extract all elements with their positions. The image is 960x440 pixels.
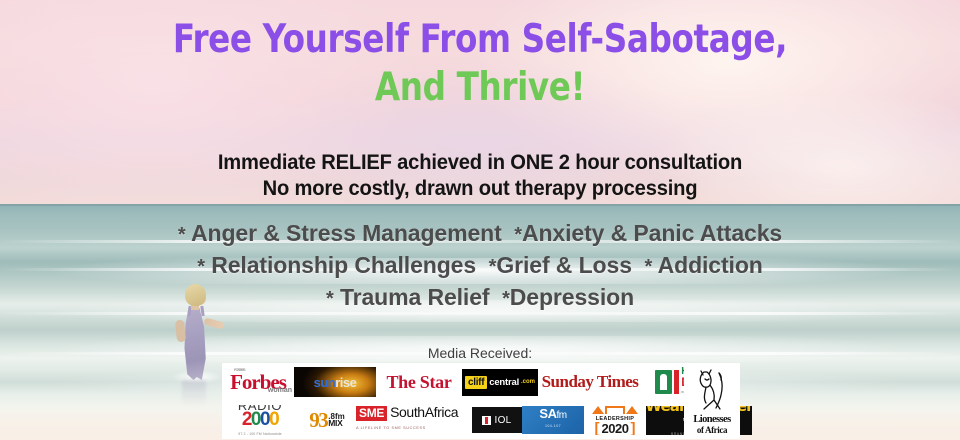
mix-93-8-logo[interactable]: 93 .8fm MIX xyxy=(298,405,356,435)
benefit-item: Trauma Relief xyxy=(340,284,490,310)
mix-text: MIX xyxy=(328,420,344,427)
lionesses-text: Lionesses xyxy=(693,414,730,425)
headline: Free Yourself From Self-Sabotage, And Th… xyxy=(34,16,927,112)
media-logo-row-1: FORBES Forbes woman sunrise The Star cli… xyxy=(222,363,740,401)
bullet-star-icon: * xyxy=(514,224,522,246)
subheadline-line-1: Immediate RELIEF achieved in ONE 2 hour … xyxy=(19,150,941,176)
leadership-year: [2020] xyxy=(595,424,636,434)
sme-south-africa-logo[interactable]: SME SouthAfrica A LIFELINE TO SME SUCCES… xyxy=(356,405,472,435)
subheadline: Immediate RELIEF achieved in ONE 2 hour … xyxy=(19,150,941,202)
headline-line-2: And Thrive! xyxy=(34,64,927,112)
kicking-doors-bar-icon xyxy=(674,370,679,394)
arm xyxy=(175,320,186,343)
safm-logo[interactable]: SAfm 104-107 xyxy=(522,406,584,434)
leadership-year-text: 2020 xyxy=(602,424,629,434)
fm-text: fm xyxy=(556,410,566,421)
benefit-item: Relationship Challenges xyxy=(211,252,476,278)
mix-wordmark: .8fm MIX xyxy=(328,413,344,427)
benefits-row: * Anger & Stress Management *Anxiety & P… xyxy=(0,218,960,250)
sa-text: SA xyxy=(539,406,556,421)
benefits-row: * Trauma Relief *Depression xyxy=(0,282,960,314)
cliff-domain-text: .com xyxy=(521,379,535,385)
sme-wordmark: SME SouthAfrica xyxy=(356,406,458,421)
bullet-star-icon: * xyxy=(326,288,334,310)
sunday-times-logo[interactable]: Sunday Times xyxy=(538,367,642,397)
sunrise-sun-text: sun xyxy=(314,375,336,390)
sunrise-logo[interactable]: sunrise xyxy=(294,367,376,397)
the-star-logo[interactable]: The Star xyxy=(376,367,462,397)
arm xyxy=(203,317,224,329)
benefit-item: Anxiety & Panic Attacks xyxy=(522,220,782,246)
benefit-item: Addiction xyxy=(658,252,763,278)
forbes-tiny-label: FORBES xyxy=(234,367,245,372)
forbes-woman-label: woman xyxy=(268,387,292,394)
forbes-woman-logo[interactable]: FORBES Forbes woman xyxy=(222,367,294,397)
bullet-star-icon: * xyxy=(644,256,652,278)
media-logo-strip: FORBES Forbes woman sunrise The Star cli… xyxy=(222,363,740,439)
lioness-illustration-icon xyxy=(690,364,734,414)
leadership-chevrons-icon xyxy=(592,406,638,414)
mix-number: 93 xyxy=(309,408,327,433)
media-logo-row-2: RADIO 2000 97.2 - 100 FM Nationwide 93 .… xyxy=(222,401,740,439)
of-africa-text: of Africa xyxy=(697,425,727,435)
cliff-badge: cliff xyxy=(465,376,487,389)
kicking-doors-mark-icon xyxy=(655,370,672,394)
promo-banner: Free Yourself From Self-Sabotage, And Th… xyxy=(0,0,960,440)
lionesses-of-africa-logo[interactable]: Lionesses of Africa xyxy=(684,364,740,438)
sunrise-rise-text: rise xyxy=(335,375,356,390)
safm-wordmark: SAfm xyxy=(539,408,566,421)
iol-logo[interactable]: IOL xyxy=(472,407,522,433)
radio-2000-logo[interactable]: RADIO 2000 97.2 - 100 FM Nationwide xyxy=(222,405,298,435)
sme-tagline: A LIFELINE TO SME SUCCESS xyxy=(356,422,426,435)
horizon-line xyxy=(0,204,960,206)
iol-mark-icon xyxy=(482,416,491,425)
cliff-central-logo[interactable]: cliff central .com xyxy=(462,369,538,396)
sme-badge: SME xyxy=(356,406,387,421)
benefits-row: * Relationship Challenges *Grief & Loss … xyxy=(0,250,960,282)
benefits-list: * Anger & Stress Management *Anxiety & P… xyxy=(0,218,960,314)
media-received-label: Media Received: xyxy=(0,345,960,361)
safm-frequency: 104-107 xyxy=(545,421,561,432)
subheadline-line-2: No more costly, drawn out therapy proces… xyxy=(19,176,941,202)
benefit-item: Anger & Stress Management xyxy=(191,220,502,246)
leadership-2020-logo[interactable]: LEADERSHIP [2020] xyxy=(584,405,646,435)
south-africa-text: SouthAfrica xyxy=(390,406,458,419)
bullet-star-icon: * xyxy=(502,288,510,310)
iol-text: IOL xyxy=(494,415,511,426)
radio-2000-number: 2000 xyxy=(242,411,278,429)
bullet-star-icon: * xyxy=(197,256,205,278)
bullet-star-icon: * xyxy=(178,224,186,246)
water-reflection xyxy=(182,380,206,406)
benefit-item: Depression xyxy=(510,284,634,310)
radio-2000-tagline: 97.2 - 100 FM Nationwide xyxy=(238,429,282,435)
central-text: central xyxy=(489,377,519,388)
benefit-item: Grief & Loss xyxy=(496,252,632,278)
headline-line-1: Free Yourself From Self-Sabotage, xyxy=(34,16,927,64)
